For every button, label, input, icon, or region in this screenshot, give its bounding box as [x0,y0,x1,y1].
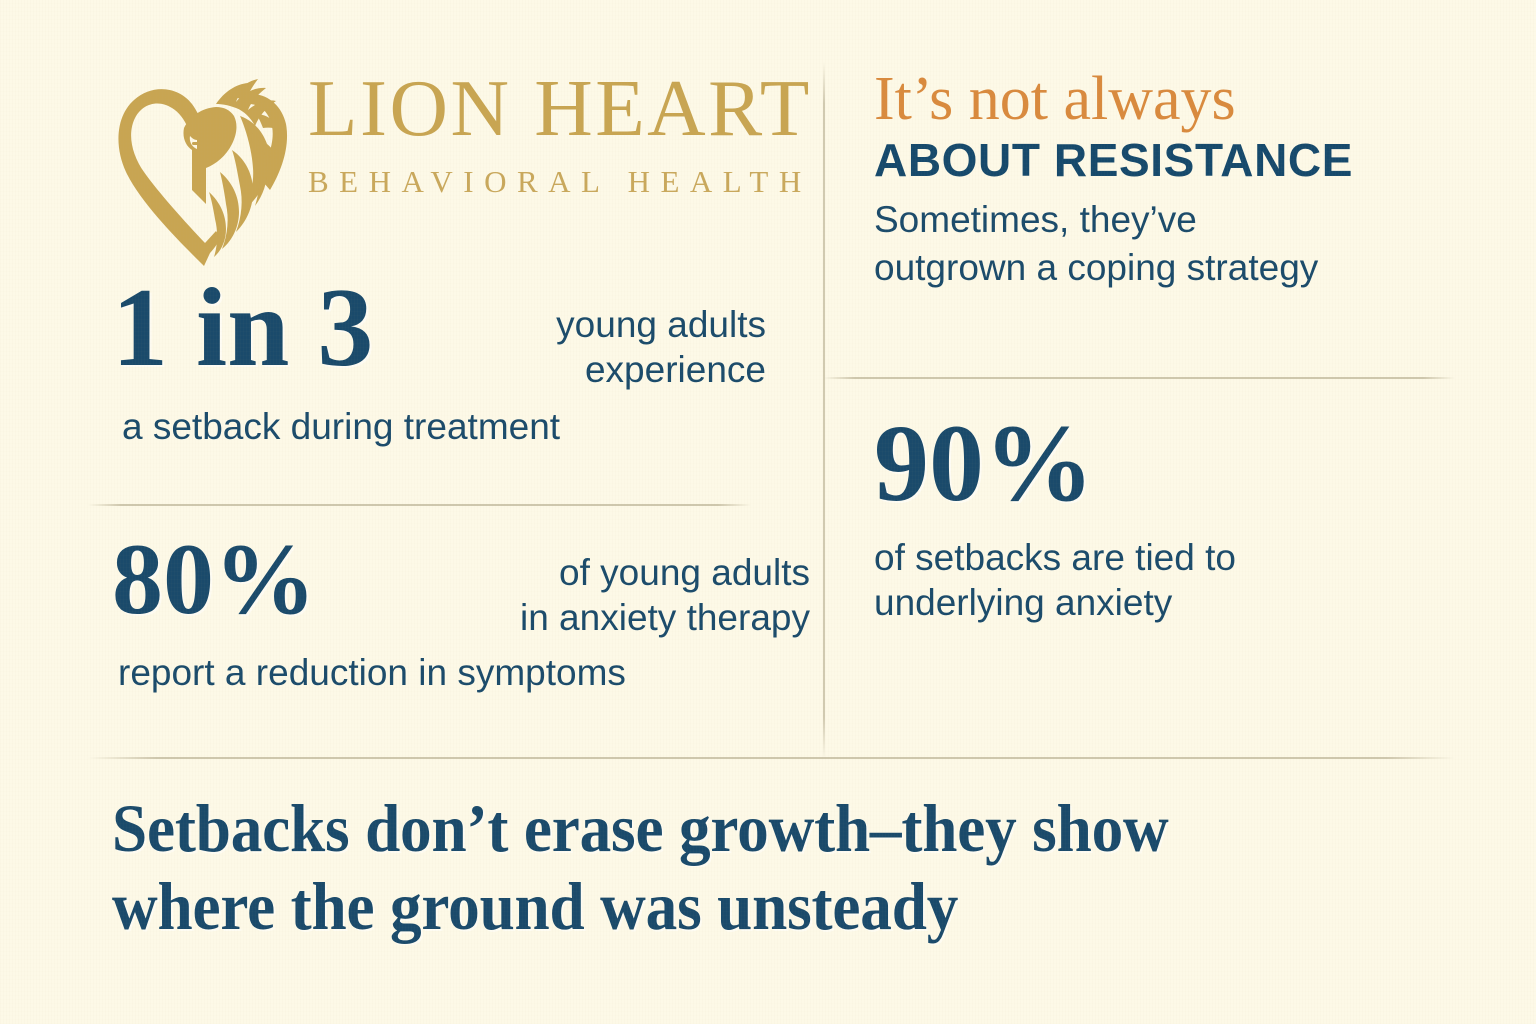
headline-body: Sometimes, they’ve outgrown a coping str… [874,196,1434,291]
stat-block-eighty-percent: 80% of young adults in anxiety therapy r… [112,534,812,695]
headline-body-line-1: Sometimes, they’ve [874,196,1434,243]
stat-row: 1 in 3 young adults experience [112,278,812,392]
lion-heart-logo-icon [112,54,298,270]
stat-tail-one-in-three: a setback during treatment [112,404,812,449]
stat-tail-ninety-percent: of setbacks are tied to underlying anxie… [874,535,1434,625]
divider-left-column [88,504,751,506]
tagline-line-1: Setbacks don’t erase growth–they show [112,790,1358,868]
stat-support-line-2: experience [373,347,766,392]
infographic-canvas: LION HEART BEHAVIORAL HEALTH It’s not al… [0,0,1536,1024]
divider-vertical-center [823,62,825,759]
brand-wordmark: LION HEART BEHAVIORAL HEALTH [308,70,808,200]
brand-logo-block: LION HEART BEHAVIORAL HEALTH [112,52,812,272]
stat-support-one-in-three: young adults experience [373,278,812,392]
stat-support-line-1: of young adults [316,550,810,595]
stat-tail-line-2: underlying anxiety [874,580,1434,625]
divider-bottom-full [88,757,1455,759]
stat-tail-line-1: of setbacks are tied to [874,535,1434,580]
tagline-line-2: where the ground was unsteady [112,868,1358,946]
stat-block-ninety-percent: 90% of setbacks are tied to underlying a… [874,414,1434,625]
stat-number-one-in-three: 1 in 3 [112,278,373,379]
brand-name: LION HEART [308,70,808,148]
stat-tail-eighty-percent: report a reduction in symptoms [112,650,812,695]
stat-block-one-in-three: 1 in 3 young adults experience a setback… [112,278,812,449]
brand-tagline: BEHAVIORAL HEALTH [308,164,808,200]
headline-strong-line: ABOUT RESISTANCE [874,136,1434,184]
stat-number-eighty-percent: 80% [112,534,316,626]
stat-row: 80% of young adults in anxiety therapy [112,534,812,640]
headline-script-line: It’s not always [874,68,1434,130]
bottom-tagline-block: Setbacks don’t erase growth–they show wh… [112,790,1452,945]
stat-support-line-2: in anxiety therapy [316,595,810,640]
headline-body-line-2: outgrown a coping strategy [874,244,1434,291]
divider-right-column [823,377,1455,379]
stat-number-ninety-percent: 90% [874,414,1434,513]
headline-block: It’s not always ABOUT RESISTANCE Sometim… [874,68,1434,291]
stat-support-line-1: young adults [373,302,766,347]
stat-support-eighty-percent: of young adults in anxiety therapy [316,534,812,640]
